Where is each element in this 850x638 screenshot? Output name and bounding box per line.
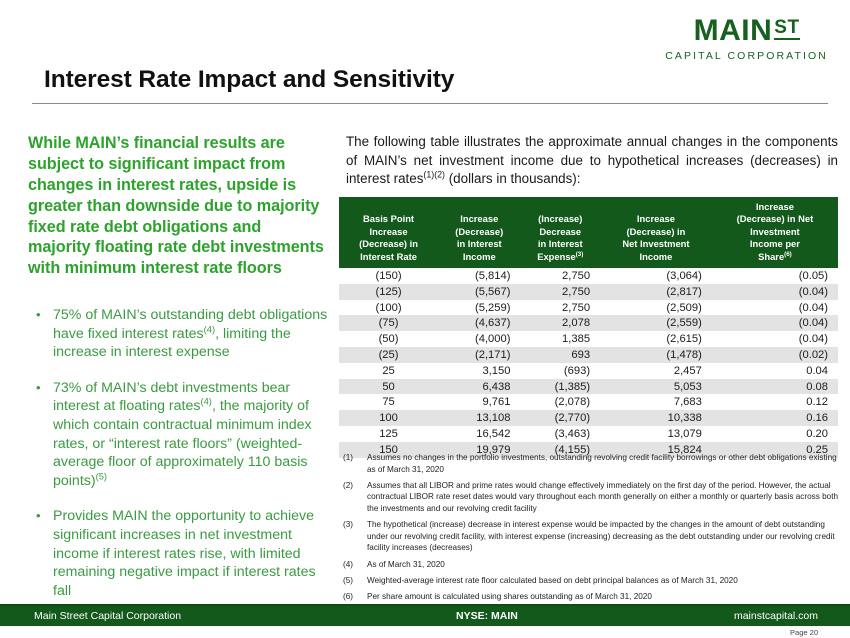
lead-statement: While MAIN’s financial results are subje…	[28, 133, 328, 279]
footnote-text: Assumes no changes in the portfolio inve…	[367, 452, 839, 475]
title-divider	[32, 103, 828, 104]
bullet-list: • 75% of MAIN’s outstanding debt obligat…	[36, 306, 336, 617]
table-cell: (0.04)	[712, 300, 838, 316]
table-cell: (0.04)	[712, 315, 838, 331]
table-cell: (2,171)	[438, 347, 520, 363]
column-header-0: Basis PointIncrease(Decrease) inInterest…	[339, 197, 438, 268]
footnote-number: (2)	[343, 480, 367, 515]
footnote-text: Assumes that all LIBOR and prime rates w…	[367, 480, 839, 515]
table-cell: (1,478)	[600, 347, 712, 363]
table-cell: (2,559)	[600, 315, 712, 331]
table-row: (125)(5,567)2,750(2,817)(0.04)	[339, 284, 838, 300]
table-cell: (25)	[339, 347, 438, 363]
page-number: Page 20	[790, 628, 818, 637]
table-cell: 50	[339, 379, 438, 395]
page-title: Interest Rate Impact and Sensitivity	[44, 66, 454, 94]
table-header-row: Basis PointIncrease(Decrease) inInterest…	[339, 197, 838, 268]
bullet-text: Provides MAIN the opportunity to achieve…	[53, 507, 336, 600]
table-cell: 0.04	[712, 363, 838, 379]
bullet-dot-icon: •	[36, 507, 53, 600]
table-body: (150)(5,814)2,750(3,064)(0.05)(125)(5,56…	[339, 268, 838, 458]
table-cell: (4,000)	[438, 331, 520, 347]
footnote-number: (6)	[343, 591, 367, 603]
logo-main-text: MAIN	[694, 16, 773, 46]
table-cell: 5,053	[600, 379, 712, 395]
table-row: (25)(2,171)693(1,478)(0.02)	[339, 347, 838, 363]
footnote: (1)Assumes no changes in the portfolio i…	[343, 452, 839, 475]
footnotes: (1)Assumes no changes in the portfolio i…	[343, 452, 839, 607]
table-cell: (2,509)	[600, 300, 712, 316]
table-cell: 13,108	[438, 410, 520, 426]
bullet-dot-icon: •	[36, 379, 53, 491]
table-cell: 2,750	[520, 300, 600, 316]
table-cell: 7,683	[600, 394, 712, 410]
table-cell: 6,438	[438, 379, 520, 395]
table-cell: (50)	[339, 331, 438, 347]
footnote-number: (3)	[343, 519, 367, 554]
table-cell: (0.04)	[712, 284, 838, 300]
table-cell: 16,542	[438, 426, 520, 442]
list-item: • 73% of MAIN’s debt investments bear in…	[36, 379, 336, 491]
table-cell: 1,385	[520, 331, 600, 347]
footnote-number: (5)	[343, 575, 367, 587]
table-cell: (75)	[339, 315, 438, 331]
logo-wordmark: MAINST	[665, 16, 828, 46]
table-row: 10013,108(2,770)10,3380.16	[339, 410, 838, 426]
table-cell: 0.20	[712, 426, 838, 442]
table-cell: 0.16	[712, 410, 838, 426]
footnote-number: (4)	[343, 559, 367, 571]
footnote-text: Weighted-average interest rate floor cal…	[367, 575, 839, 587]
table-row: 253,150(693)2,4570.04	[339, 363, 838, 379]
footer-ticker: NYSE: MAIN	[456, 610, 518, 622]
main-street-capital-logo: MAINST CAPITAL CORPORATION	[665, 16, 828, 62]
bullet-text: 73% of MAIN’s debt investments bear inte…	[53, 379, 336, 491]
table-header: Basis PointIncrease(Decrease) inInterest…	[339, 197, 838, 268]
table-row: 759,761(2,078)7,6830.12	[339, 394, 838, 410]
table-row: (100)(5,259)2,750(2,509)(0.04)	[339, 300, 838, 316]
table-row: (50)(4,000)1,385(2,615)(0.04)	[339, 331, 838, 347]
column-header-3: Increase(Decrease) inNet InvestmentIncom…	[600, 197, 712, 268]
footnote: (4)As of March 31, 2020	[343, 559, 839, 571]
table-cell: (0.02)	[712, 347, 838, 363]
table-cell: 125	[339, 426, 438, 442]
footnote-text: As of March 31, 2020	[367, 559, 839, 571]
table-cell: 75	[339, 394, 438, 410]
footnote: (5)Weighted-average interest rate floor …	[343, 575, 839, 587]
table-cell: (2,770)	[520, 410, 600, 426]
table-cell: (5,567)	[438, 284, 520, 300]
table-cell: (4,637)	[438, 315, 520, 331]
bullet-text: 75% of MAIN’s outstanding debt obligatio…	[53, 306, 336, 362]
table-cell: (0.05)	[712, 268, 838, 284]
footnote: (6)Per share amount is calculated using …	[343, 591, 839, 603]
slide: MAINST CAPITAL CORPORATION Interest Rate…	[0, 0, 850, 638]
table-cell: (150)	[339, 268, 438, 284]
table-cell: (3,064)	[600, 268, 712, 284]
footnote: (2)Assumes that all LIBOR and prime rate…	[343, 480, 839, 515]
bullet-dot-icon: •	[36, 306, 53, 362]
table-cell: 3,150	[438, 363, 520, 379]
table-cell: 10,338	[600, 410, 712, 426]
table-cell: (5,259)	[438, 300, 520, 316]
table-cell: (693)	[520, 363, 600, 379]
table-intro-paragraph: The following table illustrates the appr…	[346, 133, 838, 189]
footnote-text: The hypothetical (increase) decrease in …	[367, 519, 839, 554]
footer-website[interactable]: mainstcapital.com	[734, 610, 818, 622]
footnote-number: (1)	[343, 452, 367, 475]
table-cell: 2,750	[520, 284, 600, 300]
table-cell: 2,750	[520, 268, 600, 284]
table-cell: 0.08	[712, 379, 838, 395]
table-cell: 13,079	[600, 426, 712, 442]
table-cell: (2,817)	[600, 284, 712, 300]
list-item: • Provides MAIN the opportunity to achie…	[36, 507, 336, 600]
table-cell: 2,457	[600, 363, 712, 379]
column-header-2: (Increase)Decreasein InterestExpense(3)	[520, 197, 600, 268]
table-cell: (125)	[339, 284, 438, 300]
table-cell: (2,615)	[600, 331, 712, 347]
footer-company-name: Main Street Capital Corporation	[34, 610, 181, 622]
table-cell: 25	[339, 363, 438, 379]
table-row: (150)(5,814)2,750(3,064)(0.05)	[339, 268, 838, 284]
table-cell: 100	[339, 410, 438, 426]
column-header-4: Increase(Decrease) in NetInvestmentIncom…	[712, 197, 838, 268]
table-cell: (1,385)	[520, 379, 600, 395]
logo-st-text: ST	[774, 18, 799, 40]
column-header-1: Increase(Decrease)in InterestIncome	[438, 197, 520, 268]
table-cell: 2,078	[520, 315, 600, 331]
table-cell: 9,761	[438, 394, 520, 410]
footer-bar: Main Street Capital Corporation NYSE: MA…	[0, 606, 850, 626]
logo-subtitle: CAPITAL CORPORATION	[665, 51, 828, 62]
footnote-text: Per share amount is calculated using sha…	[367, 591, 839, 603]
table-row: 12516,542(3,463)13,0790.20	[339, 426, 838, 442]
table-cell: (0.04)	[712, 331, 838, 347]
table-cell: (100)	[339, 300, 438, 316]
table-cell: (2,078)	[520, 394, 600, 410]
table-row: (75)(4,637)2,078(2,559)(0.04)	[339, 315, 838, 331]
table-cell: (5,814)	[438, 268, 520, 284]
list-item: • 75% of MAIN’s outstanding debt obligat…	[36, 306, 336, 362]
table-cell: 0.12	[712, 394, 838, 410]
table-cell: (3,463)	[520, 426, 600, 442]
interest-rate-sensitivity-table: Basis PointIncrease(Decrease) inInterest…	[339, 197, 838, 458]
footnote: (3)The hypothetical (increase) decrease …	[343, 519, 839, 554]
table-cell: 693	[520, 347, 600, 363]
table-row: 506,438(1,385)5,0530.08	[339, 379, 838, 395]
